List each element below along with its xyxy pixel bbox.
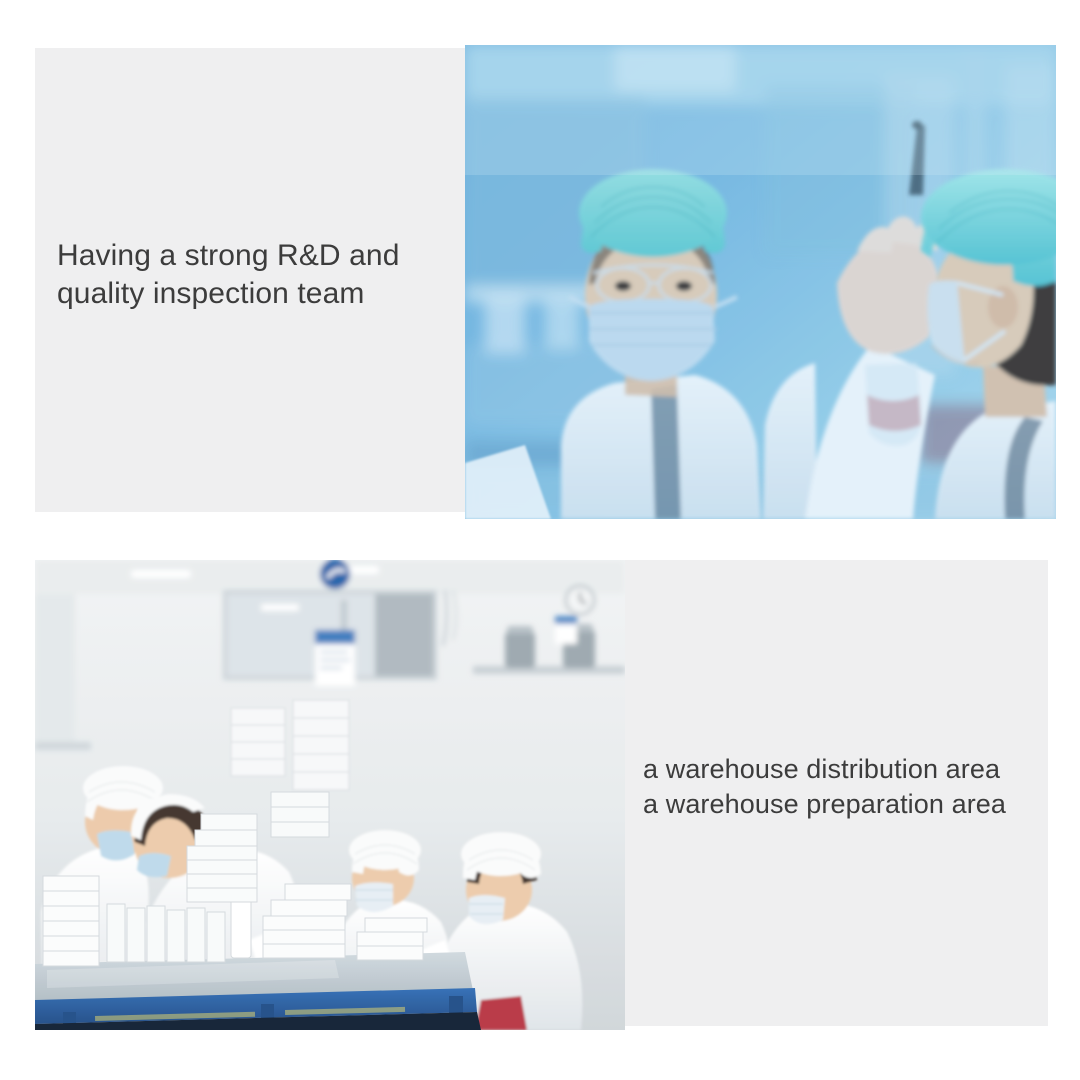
warehouse-packing-photo: [35, 560, 625, 1030]
caption-warehouse: a warehouse distribution area a warehous…: [643, 752, 1063, 822]
poster-canvas: Having a strong R&D and quality inspecti…: [0, 0, 1080, 1080]
caption-rnd-quality: Having a strong R&D and quality inspecti…: [57, 237, 457, 313]
section-rnd-quality: Having a strong R&D and quality inspecti…: [35, 45, 1056, 519]
lab-technicians-photo: [465, 45, 1056, 519]
section-warehouse: a warehouse distribution area a warehous…: [35, 560, 1048, 1030]
